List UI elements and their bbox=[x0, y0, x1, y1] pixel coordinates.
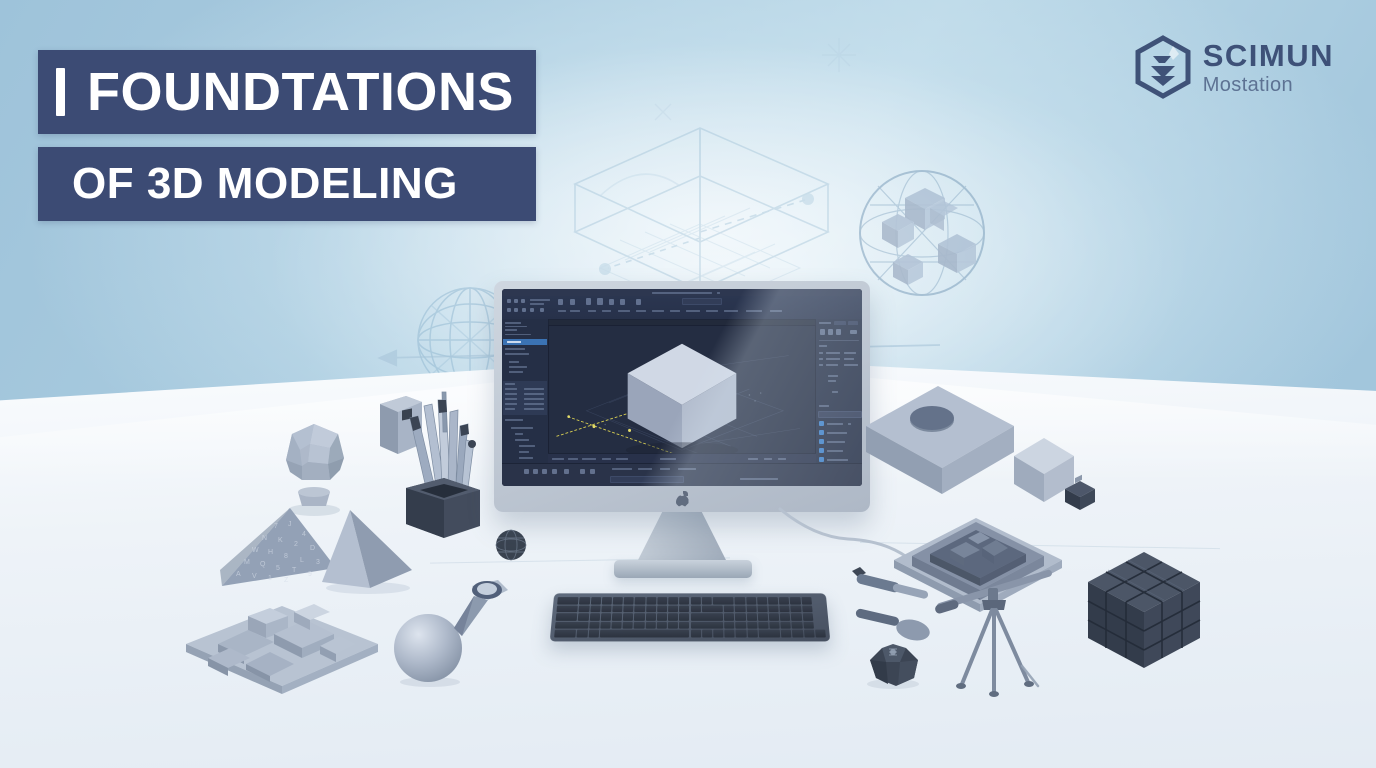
brand-subtitle: Mostation bbox=[1203, 75, 1334, 95]
svg-text:V: V bbox=[252, 573, 257, 580]
monitor-screen bbox=[502, 289, 862, 486]
small-dark-cube bbox=[1063, 478, 1097, 512]
svg-text:Q: Q bbox=[260, 561, 266, 568]
svg-text:N: N bbox=[262, 535, 267, 542]
computer-mouse[interactable] bbox=[862, 640, 924, 688]
svg-text:W: W bbox=[252, 547, 259, 554]
segmented-dark-cube bbox=[1084, 546, 1204, 674]
keyboard[interactable] bbox=[550, 593, 831, 641]
low-poly-terrain-model bbox=[178, 582, 384, 694]
title-banner-line1: FOUNDTATIONS bbox=[38, 50, 536, 134]
monitor-chin bbox=[502, 486, 862, 512]
block-with-circular-hole bbox=[862, 380, 1022, 500]
viewport-3d[interactable] bbox=[548, 325, 816, 460]
brand-name: SCIMUN bbox=[1203, 40, 1334, 71]
computer-monitor bbox=[494, 281, 870, 512]
svg-text:2: 2 bbox=[294, 541, 298, 548]
command-line-status-bar[interactable] bbox=[502, 463, 862, 486]
svg-text:D: D bbox=[310, 545, 315, 552]
title-line1-text: FOUNDTATIONS bbox=[87, 61, 514, 123]
poster-canvas: 7J4 NK2D WH8L3 MQ5T9 AV1Z bbox=[0, 0, 1376, 768]
brand-logo[interactable]: SCIMUN Mostation bbox=[1135, 36, 1334, 98]
pencil-cup-with-tools bbox=[400, 392, 484, 540]
camera-tripod bbox=[934, 556, 1076, 700]
svg-text:T: T bbox=[292, 567, 297, 574]
svg-text:M: M bbox=[244, 559, 250, 566]
title-banner-line2: OF 3D MODELING bbox=[38, 147, 536, 221]
hexagon-layers-icon bbox=[1135, 36, 1191, 98]
title-line2-text: OF 3D MODELING bbox=[72, 159, 458, 209]
svg-text:1: 1 bbox=[268, 575, 272, 582]
svg-text:L: L bbox=[300, 557, 304, 564]
apple-logo-icon bbox=[676, 492, 689, 507]
svg-text:7: 7 bbox=[274, 523, 278, 530]
material-layer-panel[interactable] bbox=[815, 319, 862, 464]
cad-application-ui[interactable] bbox=[502, 289, 862, 486]
svg-text:8: 8 bbox=[284, 553, 288, 560]
svg-text:4: 4 bbox=[302, 531, 306, 538]
svg-text:9: 9 bbox=[308, 571, 312, 578]
app-titlebar bbox=[502, 289, 862, 296]
svg-text:A: A bbox=[236, 571, 241, 578]
brand-logo-text: SCIMUN Mostation bbox=[1203, 40, 1334, 95]
svg-text:K: K bbox=[278, 537, 283, 544]
stylus-pen bbox=[848, 565, 934, 601]
svg-text:H: H bbox=[268, 549, 273, 556]
title-block: FOUNDTATIONS OF 3D MODELING bbox=[38, 50, 536, 221]
small-dark-sphere bbox=[494, 528, 528, 562]
monitor-stand-base bbox=[614, 560, 752, 578]
title-accent-bar bbox=[56, 68, 65, 116]
svg-text:J: J bbox=[288, 521, 292, 528]
outliner-panel[interactable] bbox=[502, 319, 549, 464]
magnifier-tool bbox=[438, 570, 516, 642]
svg-text:5: 5 bbox=[276, 565, 280, 572]
keyboard-keys bbox=[554, 597, 826, 637]
ribbon-toolbar[interactable] bbox=[502, 296, 862, 320]
faceted-sphere-on-pedestal bbox=[272, 418, 356, 514]
